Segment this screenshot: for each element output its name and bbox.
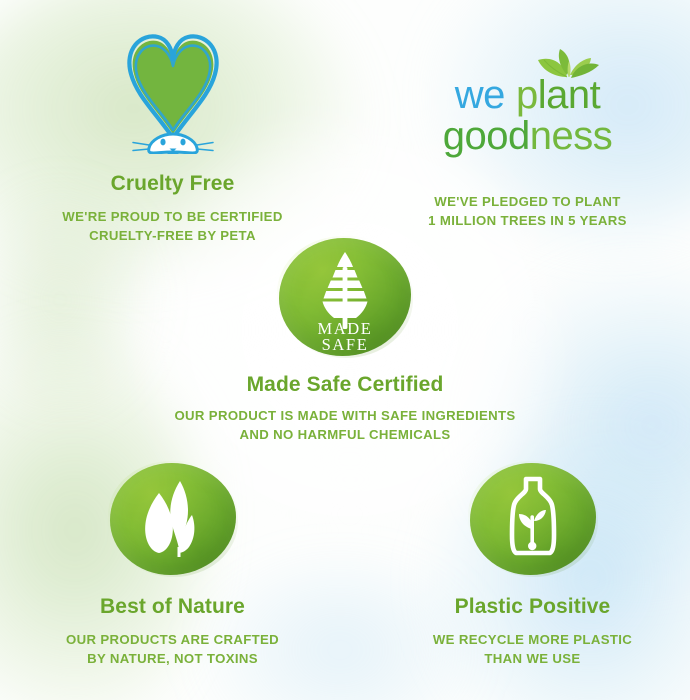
plastic-positive-badge (470, 463, 596, 575)
feature-body-line: WE'VE PLEDGED TO PLANT (380, 193, 675, 212)
feature-best-of-nature: Best of Nature OUR PRODUCTS ARE CRAFTED … (25, 463, 320, 668)
sprout-icon (533, 49, 605, 88)
logo-word-ness: ness (530, 114, 613, 158)
feature-body-line: OUR PRODUCTS ARE CRAFTED (25, 631, 320, 650)
logo-line-goodness: goodness (443, 116, 612, 156)
feature-body-line: WE'RE PROUD TO BE CERTIFIED (25, 208, 320, 227)
feature-heading-made-safe: Made Safe Certified (95, 373, 595, 398)
made-safe-leaf-icon: MADE SAFE (279, 238, 411, 356)
feature-made-safe: MADE SAFE Made Safe Certified OUR PRODUC… (95, 238, 595, 444)
feature-body-we-plant-goodness: WE'VE PLEDGED TO PLANT 1 MILLION TREES I… (380, 193, 675, 230)
feature-body-line: BY NATURE, NOT TOXINS (25, 650, 320, 669)
peta-bunny-heart-icon (25, 22, 320, 154)
best-of-nature-badge (110, 463, 236, 575)
feature-body-plastic-positive: WE RECYCLE MORE PLASTIC THAN WE USE (385, 631, 680, 668)
feature-body-line: AND NO HARMFUL CHEMICALS (95, 426, 595, 445)
two-leaves-icon (110, 463, 236, 575)
bottle-sprout-icon (470, 463, 596, 575)
feature-heading-best-of-nature: Best of Nature (25, 595, 320, 620)
feature-body-line: 1 MILLION TREES IN 5 YEARS (380, 212, 675, 231)
feature-body-best-of-nature: OUR PRODUCTS ARE CRAFTED BY NATURE, NOT … (25, 631, 320, 668)
logo-word-we: we (455, 73, 505, 117)
feature-body-line: THAN WE USE (385, 650, 680, 669)
logo-word-good: good (443, 114, 530, 158)
feature-body-made-safe: OUR PRODUCT IS MADE WITH SAFE INGREDIENT… (95, 407, 595, 444)
feature-cruelty-free: Cruelty Free WE'RE PROUD TO BE CERTIFIED… (25, 22, 320, 245)
brand-values-poster: Cruelty Free WE'RE PROUD TO BE CERTIFIED… (0, 0, 690, 700)
feature-body-line: WE RECYCLE MORE PLASTIC (385, 631, 680, 650)
feature-heading-cruelty-free: Cruelty Free (25, 172, 320, 197)
feature-heading-plastic-positive: Plastic Positive (385, 595, 680, 620)
we-plant-goodness-logo: weplant goodness (380, 75, 675, 171)
made-safe-badge: MADE SAFE (279, 238, 411, 356)
feature-body-line: OUR PRODUCT IS MADE WITH SAFE INGREDIENT… (95, 407, 595, 426)
feature-we-plant-goodness: weplant goodness WE'VE PLEDGED TO PLANT … (380, 75, 675, 230)
made-safe-badge-text-line2: SAFE (322, 335, 369, 354)
feature-plastic-positive: Plastic Positive WE RECYCLE MORE PLASTIC… (385, 463, 680, 668)
